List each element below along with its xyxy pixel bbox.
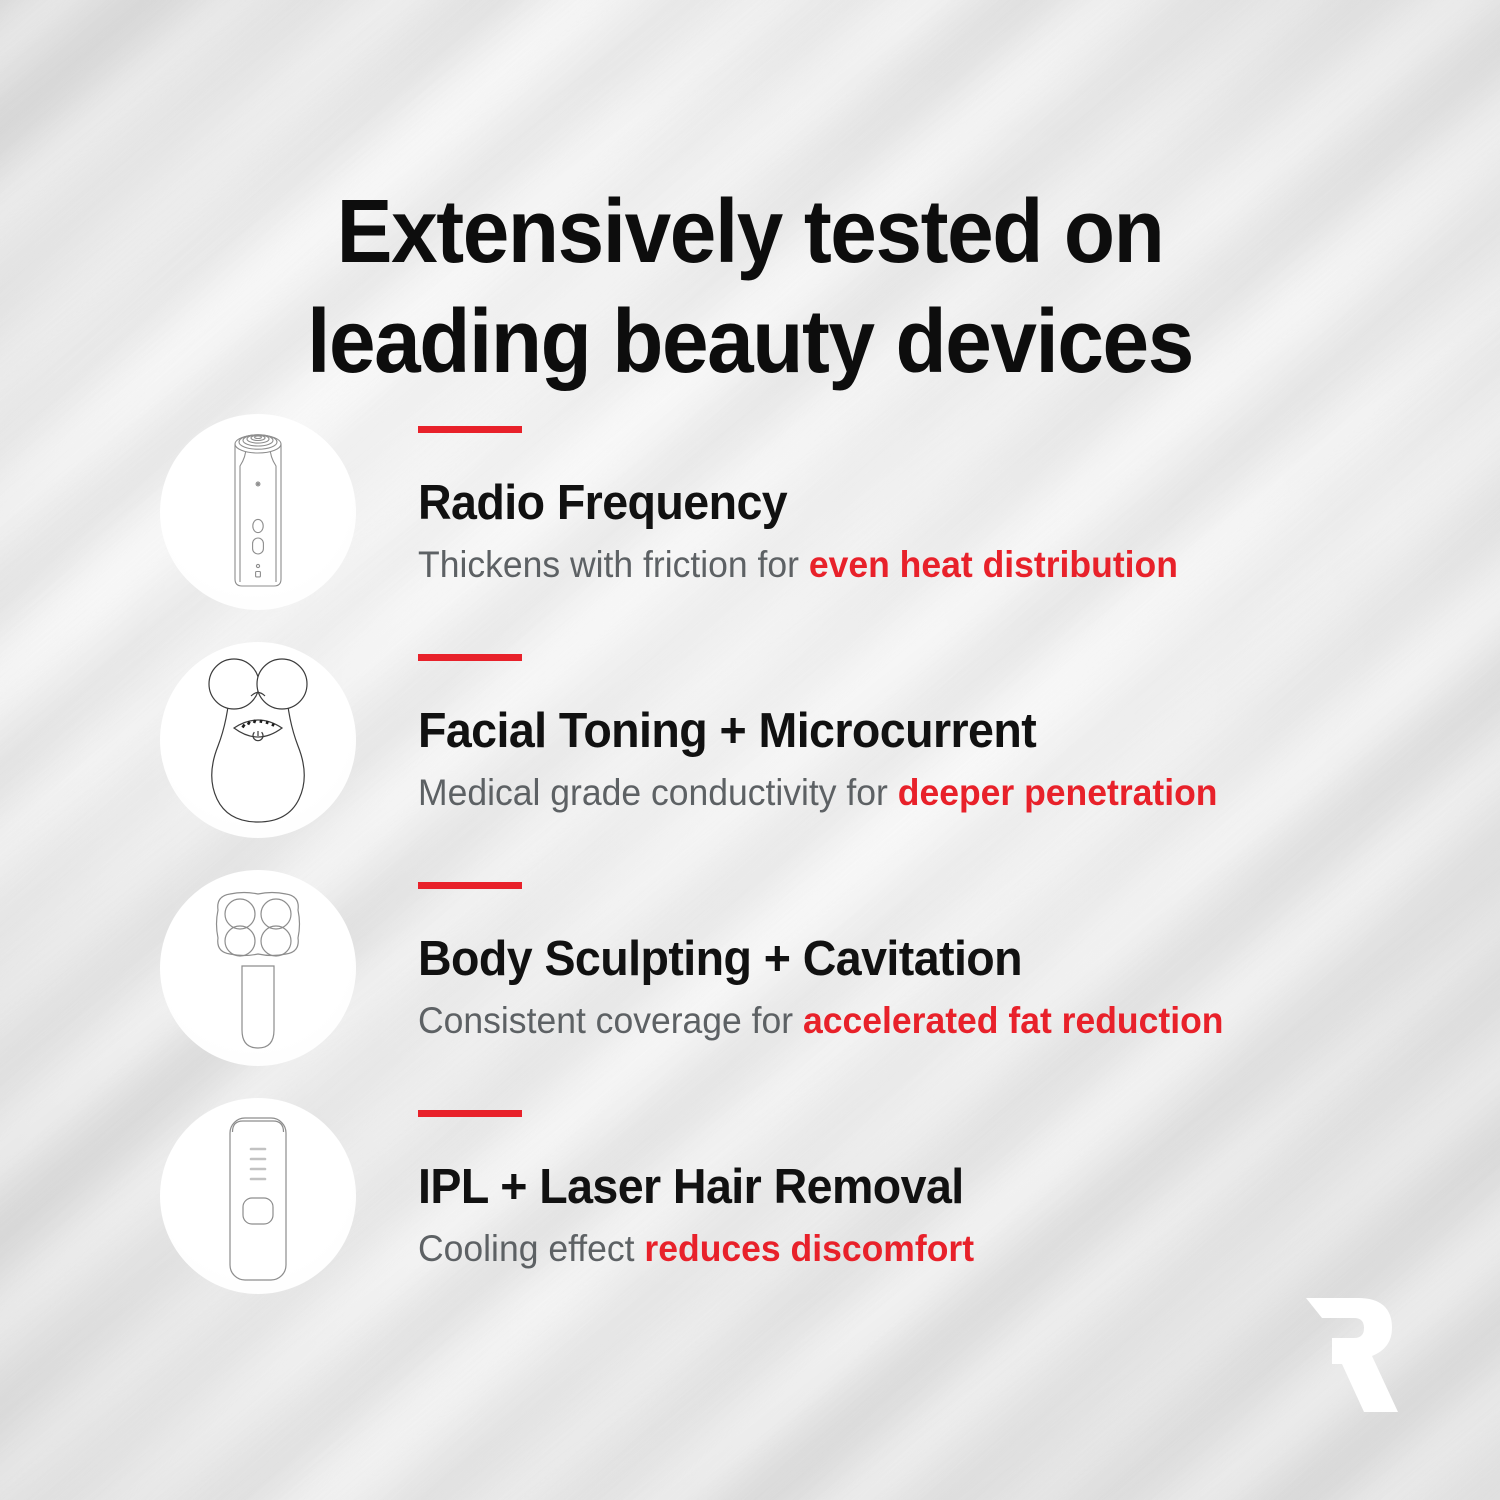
feature-subtitle-highlight: even heat distribution bbox=[809, 544, 1178, 585]
feature-icon-container bbox=[160, 642, 356, 838]
page-title: Extensively tested on leading beauty dev… bbox=[53, 178, 1448, 398]
feature-icon-container bbox=[160, 414, 356, 610]
feature-row: IPL + Laser Hair Removal Cooling effect … bbox=[0, 1084, 1500, 1312]
accent-rule bbox=[418, 1110, 522, 1117]
feature-text-block: Body Sculpting + Cavitation Consistent c… bbox=[418, 856, 1440, 1042]
feature-subtitle: Medical grade conductivity for deeper pe… bbox=[418, 772, 1399, 814]
feature-row: Radio Frequency Thickens with friction f… bbox=[0, 400, 1500, 628]
ipl-handset-device-icon bbox=[160, 1098, 356, 1294]
feature-subtitle-lead: Cooling effect bbox=[418, 1228, 644, 1269]
feature-text-block: Facial Toning + Microcurrent Medical gra… bbox=[418, 628, 1440, 814]
accent-rule bbox=[418, 654, 522, 661]
feature-text-block: IPL + Laser Hair Removal Cooling effect … bbox=[418, 1084, 1440, 1270]
accent-rule bbox=[418, 426, 522, 433]
feature-subtitle-highlight: reduces discomfort bbox=[644, 1228, 974, 1269]
feature-title: Facial Toning + Microcurrent bbox=[418, 703, 1389, 759]
brand-r-logo bbox=[1288, 1294, 1406, 1416]
body-sculpting-device-icon bbox=[160, 870, 356, 1066]
feature-title: IPL + Laser Hair Removal bbox=[418, 1159, 1389, 1215]
feature-subtitle-highlight: accelerated fat reduction bbox=[803, 1000, 1223, 1041]
feature-subtitle-lead: Medical grade conductivity for bbox=[418, 772, 898, 813]
microcurrent-facial-device-icon bbox=[160, 642, 356, 838]
infographic-canvas: Extensively tested on leading beauty dev… bbox=[0, 0, 1500, 1500]
feature-text-block: Radio Frequency Thickens with friction f… bbox=[418, 400, 1440, 586]
feature-subtitle-highlight: deeper penetration bbox=[898, 772, 1218, 813]
feature-icon-container bbox=[160, 870, 356, 1066]
page-title-line-2: leading beauty devices bbox=[53, 288, 1448, 398]
feature-title: Radio Frequency bbox=[418, 475, 1389, 531]
page-title-line-1: Extensively tested on bbox=[337, 182, 1164, 282]
feature-icon-container bbox=[160, 1098, 356, 1294]
feature-subtitle: Cooling effect reduces discomfort bbox=[418, 1228, 1399, 1270]
feature-subtitle: Consistent coverage for accelerated fat … bbox=[418, 1000, 1399, 1042]
feature-row: Body Sculpting + Cavitation Consistent c… bbox=[0, 856, 1500, 1084]
feature-row: Facial Toning + Microcurrent Medical gra… bbox=[0, 628, 1500, 856]
feature-subtitle-lead: Thickens with friction for bbox=[418, 544, 809, 585]
accent-rule bbox=[418, 882, 522, 889]
feature-list: Radio Frequency Thickens with friction f… bbox=[0, 400, 1500, 1312]
feature-title: Body Sculpting + Cavitation bbox=[418, 931, 1389, 987]
feature-subtitle-lead: Consistent coverage for bbox=[418, 1000, 803, 1041]
rf-wand-device-icon bbox=[160, 414, 356, 610]
feature-subtitle: Thickens with friction for even heat dis… bbox=[418, 544, 1399, 586]
